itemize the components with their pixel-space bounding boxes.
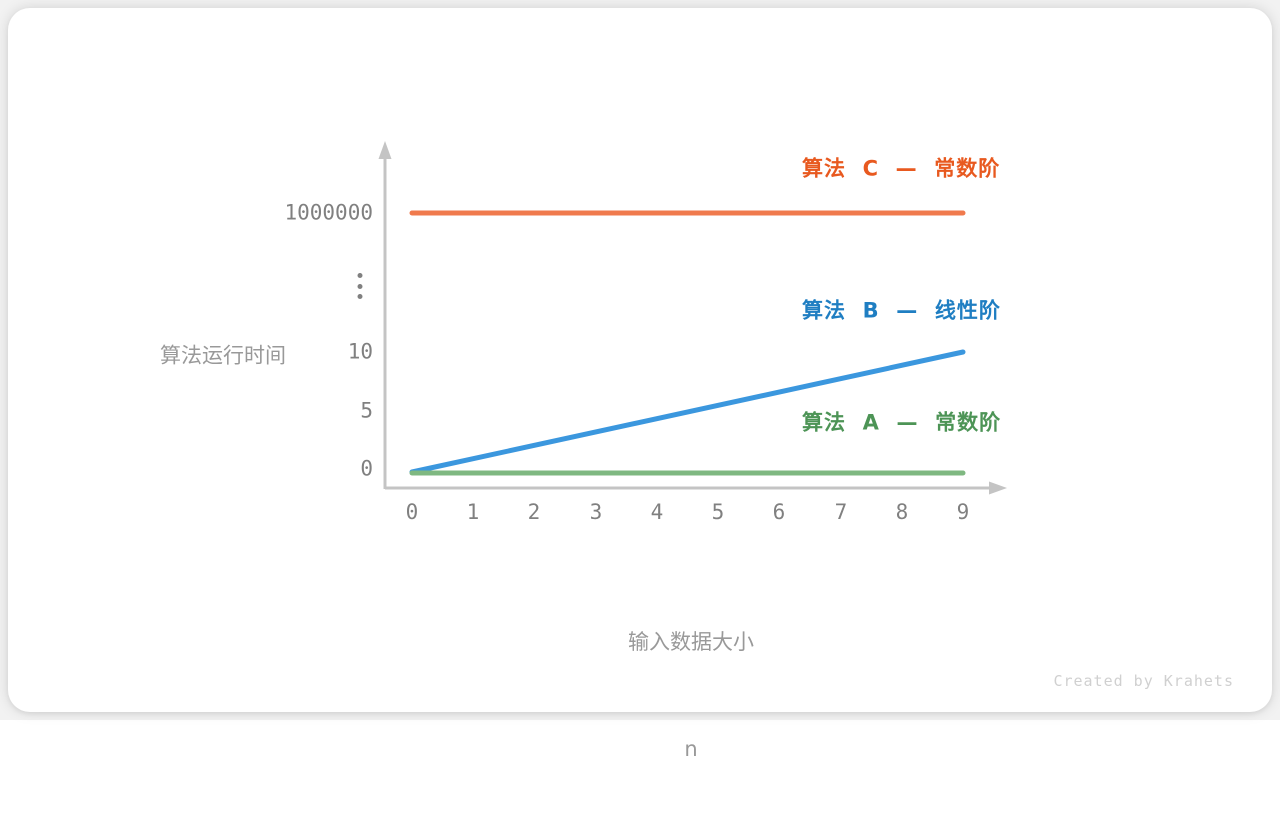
x-tick-label-7: 7 — [821, 502, 861, 523]
legend-label-algorithm-c: 算法 C — 常数阶 — [802, 159, 1000, 180]
y-tick-label-5: 5 — [208, 401, 373, 422]
x-tick-label-5: 5 — [698, 502, 738, 523]
x-axis-title: 输入数据大小 n — [531, 554, 851, 840]
x-axis-title-main: 输入数据大小 — [531, 625, 851, 661]
page-background: 1000000 10 5 0 算法运行时间 0 1 2 3 4 5 6 7 8 … — [0, 0, 1280, 720]
y-tick-label-1000000: 1000000 — [208, 203, 373, 224]
legend-label-algorithm-b: 算法 B — 线性阶 — [802, 301, 1001, 322]
x-tick-label-9: 9 — [943, 502, 983, 523]
algorithm-complexity-chart: 1000000 10 5 0 算法运行时间 0 1 2 3 4 5 6 7 8 … — [8, 8, 1272, 712]
y-axis-ellipsis-icon — [358, 273, 363, 299]
x-tick-label-0: 0 — [392, 502, 432, 523]
legend-label-algorithm-a: 算法 A — 常数阶 — [802, 413, 1001, 434]
x-tick-label-4: 4 — [637, 502, 677, 523]
x-tick-label-8: 8 — [882, 502, 922, 523]
x-tick-label-6: 6 — [759, 502, 799, 523]
x-axis — [385, 482, 1007, 495]
y-tick-label-0: 0 — [208, 459, 373, 480]
x-tick-label-1: 1 — [453, 502, 493, 523]
chart-card: 1000000 10 5 0 算法运行时间 0 1 2 3 4 5 6 7 8 … — [8, 8, 1272, 712]
y-axis-title: 算法运行时间 — [78, 346, 286, 367]
x-tick-label-3: 3 — [576, 502, 616, 523]
y-axis — [379, 141, 392, 489]
x-tick-label-2: 2 — [514, 502, 554, 523]
watermark-credit: Created by Krahets — [1053, 672, 1234, 690]
x-axis-title-variable: n — [531, 732, 851, 768]
